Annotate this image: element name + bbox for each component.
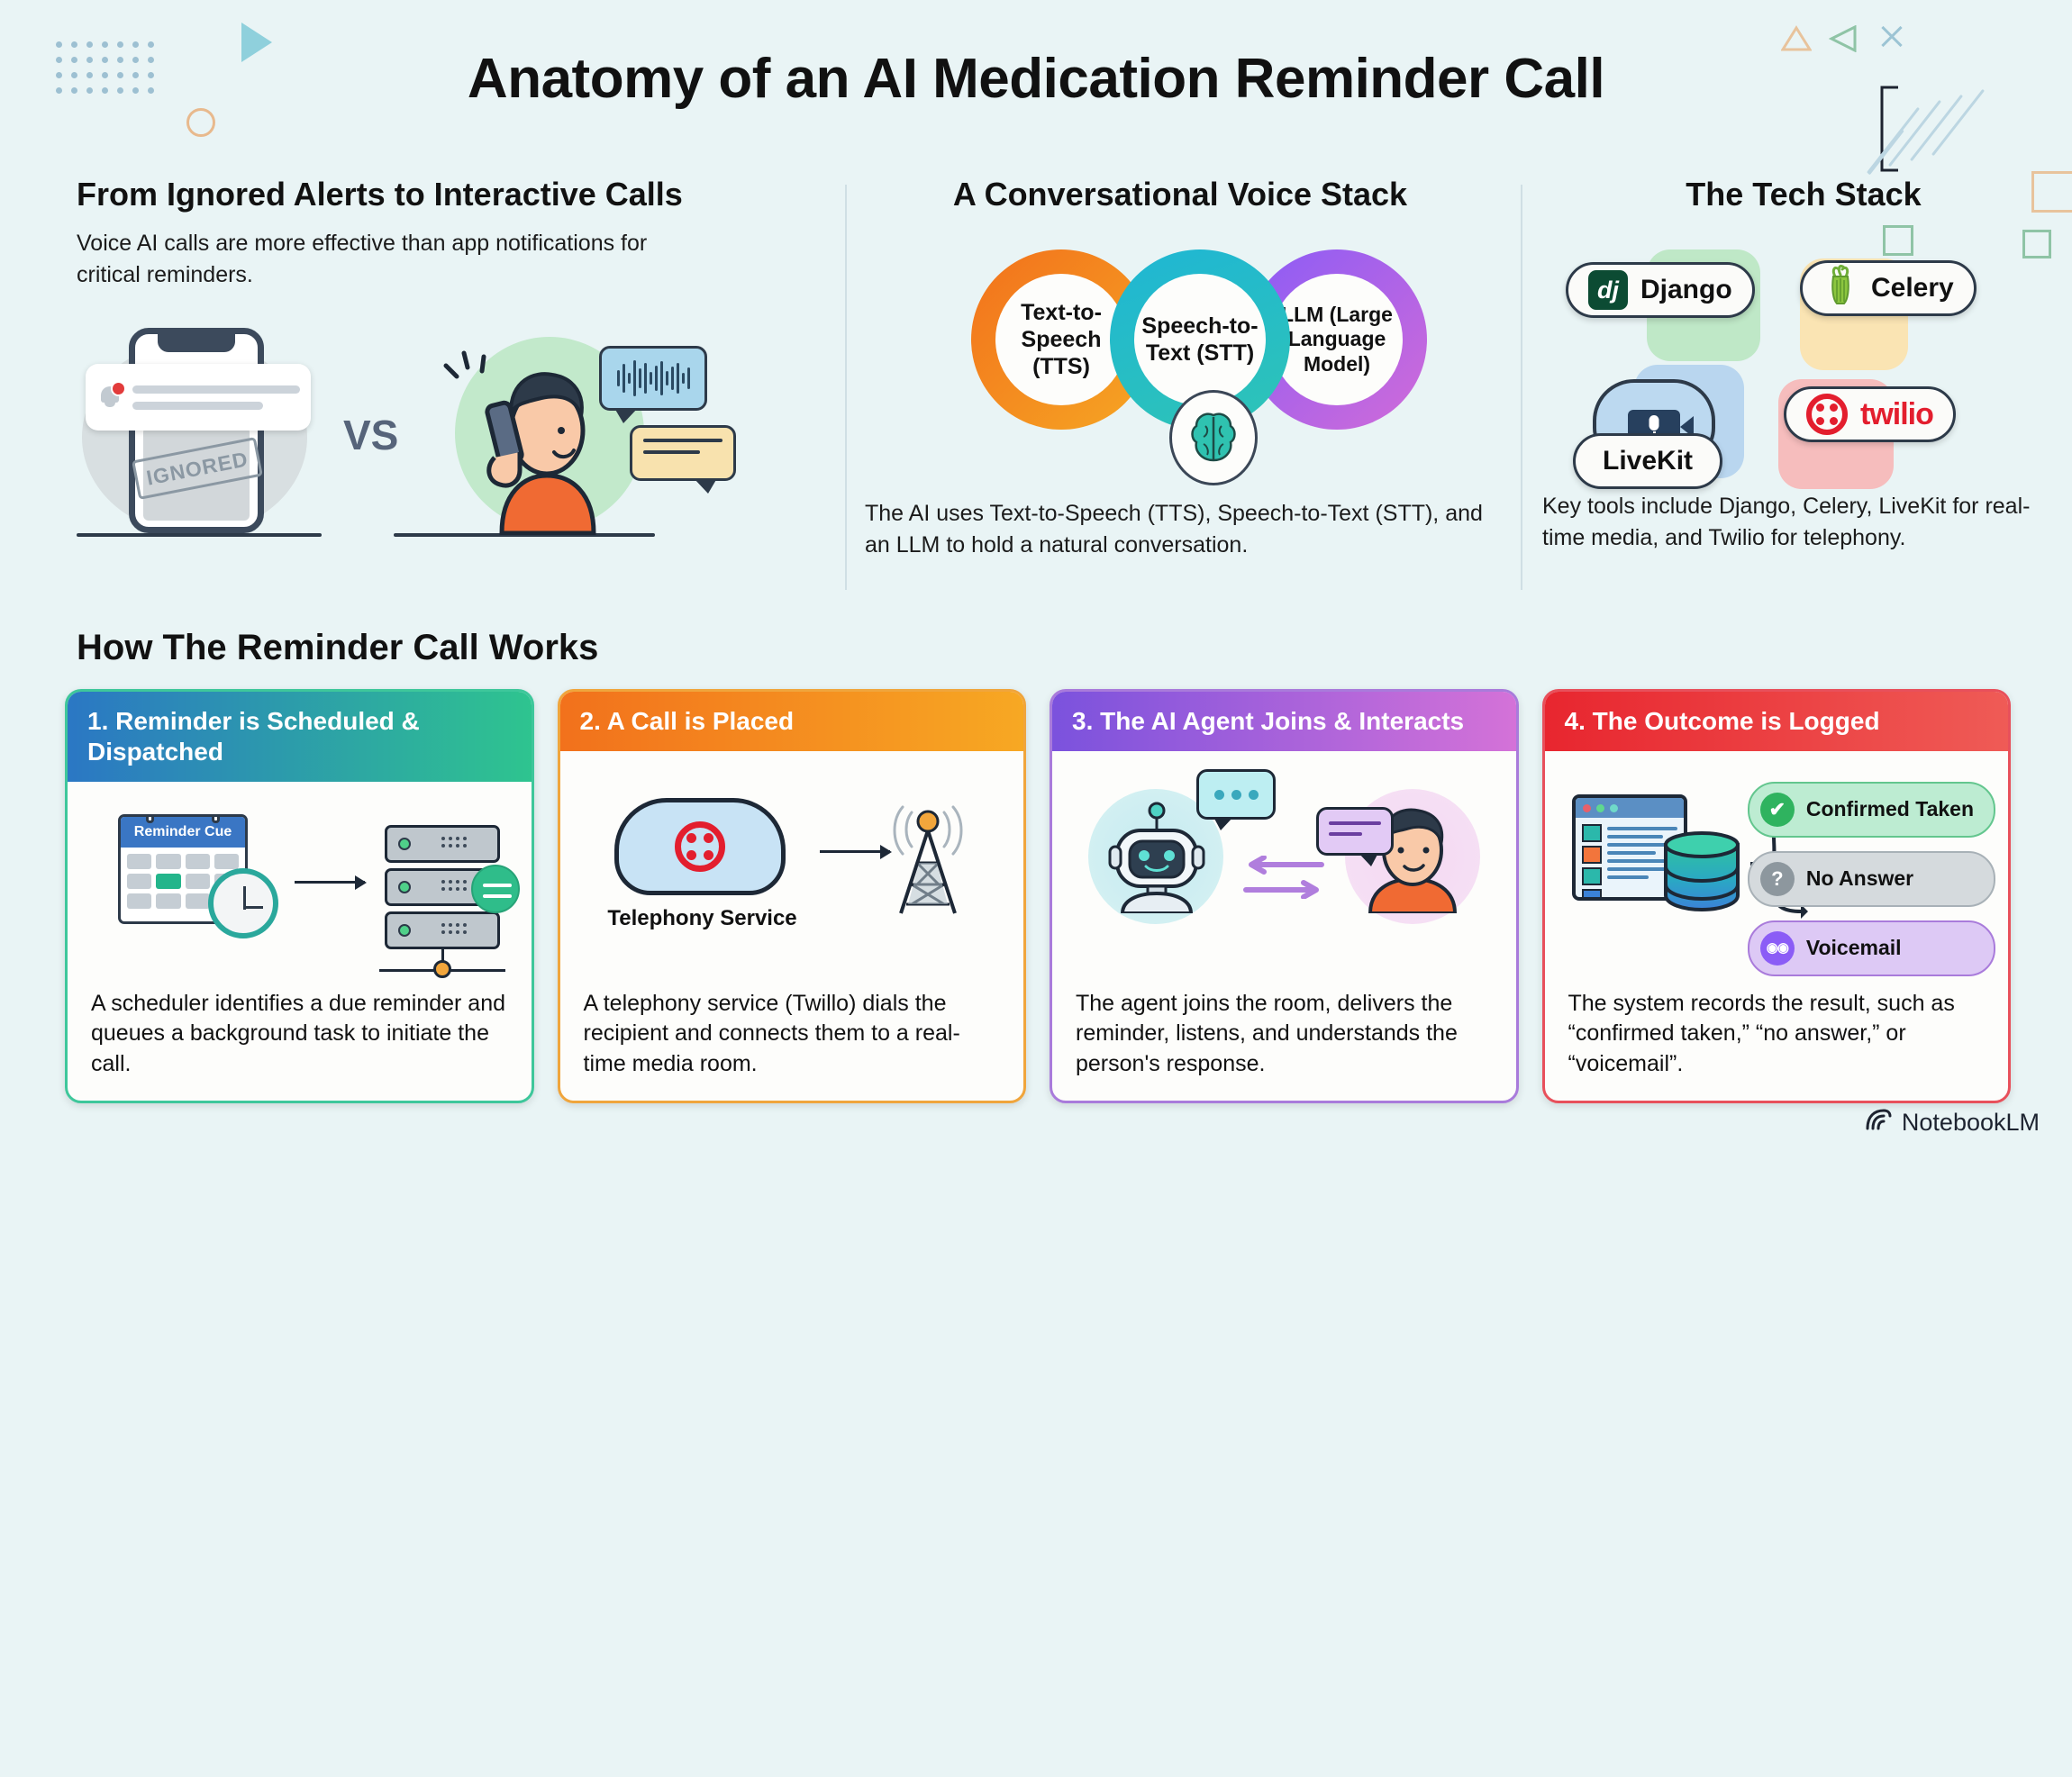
robot-speech-bubble xyxy=(1196,769,1276,820)
django-icon: dj xyxy=(1588,270,1628,310)
robot-icon xyxy=(1103,800,1211,913)
calendar-pin-left xyxy=(146,814,154,823)
chip-livekit-label: LiveKit xyxy=(1603,446,1693,476)
divider-right xyxy=(1521,185,1522,590)
card-2-illustration: Telephony Service xyxy=(560,751,1024,988)
chip-django[interactable]: dj Django xyxy=(1566,262,1755,318)
card-3-title: 3. The AI Agent Joins & Interacts xyxy=(1052,692,1516,751)
sync-icon xyxy=(471,865,520,913)
bell-badge-dot xyxy=(111,381,126,396)
vs-label: VS xyxy=(343,411,398,459)
phone-notch xyxy=(158,334,235,352)
exchange-arrows-icon xyxy=(1240,856,1327,899)
ring-llm-label: LLM (Large Language Model) xyxy=(1271,274,1403,405)
chip-celery-label: Celery xyxy=(1871,273,1954,304)
chip-django-label: Django xyxy=(1640,275,1732,305)
server-rack-3 xyxy=(385,911,500,949)
queue-node-dot xyxy=(433,960,451,978)
card-step-1[interactable]: 1. Reminder is Scheduled & Dispatched Re… xyxy=(65,689,534,1103)
section-voice-stack: A Conversational Voice Stack Text-to-Spe… xyxy=(865,176,1495,560)
clock-icon xyxy=(208,868,278,938)
section-middle-body: The AI uses Text-to-Speech (TTS), Speech… xyxy=(865,498,1495,560)
footer-brand: NotebookLM xyxy=(1865,1108,2040,1138)
card-2-title: 2. A Call is Placed xyxy=(560,692,1024,751)
chip-livekit-pill[interactable]: LiveKit xyxy=(1573,433,1722,489)
card-step-2[interactable]: 2. A Call is Placed Telephony Service xyxy=(558,689,1027,1103)
card-3-body: The agent joins the room, delivers the r… xyxy=(1052,989,1516,1102)
question-icon: ? xyxy=(1760,862,1795,896)
section-right-body: Key tools include Django, Celery, LiveKi… xyxy=(1542,491,2065,553)
telephony-service-label: Telephony Service xyxy=(604,906,802,931)
twilio-icon-cloud xyxy=(675,821,725,872)
section-left-heading: From Ignored Alerts to Interactive Calls xyxy=(77,176,815,213)
process-cards: 1. Reminder is Scheduled & Dispatched Re… xyxy=(65,689,2011,1103)
card-3-illustration xyxy=(1052,751,1516,988)
brain-icon xyxy=(1169,390,1258,485)
card-1-body: A scheduler identifies a due reminder an… xyxy=(68,989,532,1102)
card-4-body: The system records the result, such as “… xyxy=(1545,989,2009,1102)
badge-voicemail[interactable]: ◉◉ Voicemail xyxy=(1748,920,1995,976)
dashboard-swatches xyxy=(1582,824,1602,901)
check-icon: ✔ xyxy=(1760,793,1795,827)
voicemail-icon: ◉◉ xyxy=(1760,931,1795,966)
twilio-icon xyxy=(1806,394,1848,435)
decor-x-mark xyxy=(1878,23,1905,50)
card-2-body: A telephony service (Twillo) dials the r… xyxy=(560,989,1024,1102)
mic-icon xyxy=(1649,415,1659,431)
arrow-to-tower xyxy=(820,850,890,853)
card-step-4[interactable]: 4. The Outcome is Logged xyxy=(1542,689,2012,1103)
notification-card xyxy=(86,364,311,431)
chip-twilio[interactable]: twilio xyxy=(1784,386,1956,442)
text-message-bubble xyxy=(630,425,736,481)
page-title: Anatomy of an AI Medication Reminder Cal… xyxy=(0,47,2072,111)
server-rack-1 xyxy=(385,825,500,863)
section-tech-stack: The Tech Stack dj Django Celery xyxy=(1542,176,2065,553)
badge-confirmed-taken-label: Confirmed Taken xyxy=(1806,798,1974,821)
divider-left xyxy=(845,185,847,590)
notebooklm-wordmark: NotebookLM xyxy=(1902,1109,2040,1137)
cloud-icon xyxy=(614,798,786,895)
card-1-illustration: Reminder Cue xyxy=(68,782,532,988)
bell-icon xyxy=(96,384,123,411)
cell-tower-icon xyxy=(885,803,971,920)
chip-twilio-label: twilio xyxy=(1860,397,1933,432)
notification-text-lines xyxy=(132,385,300,410)
tech-chip-grid: dj Django Celery LiveKit xyxy=(1542,239,2065,464)
notebooklm-logo xyxy=(1865,1108,1892,1138)
top-sections: From Ignored Alerts to Interactive Calls… xyxy=(0,176,2072,599)
chip-livekit[interactable]: LiveKit xyxy=(1573,367,1744,484)
badge-no-answer[interactable]: ? No Answer xyxy=(1748,851,1995,907)
dashboard-titlebar xyxy=(1576,798,1684,818)
chip-celery[interactable]: Celery xyxy=(1800,260,1977,316)
decor-circle-orange xyxy=(186,108,215,137)
person-speech-bubble xyxy=(1316,807,1394,856)
section-right-heading: The Tech Stack xyxy=(1542,176,2065,213)
badge-confirmed-taken[interactable]: ✔ Confirmed Taken xyxy=(1748,782,1995,838)
ring-stt-label: Speech-to-Text (STT) xyxy=(1134,274,1266,405)
section-middle-heading: A Conversational Voice Stack xyxy=(865,176,1495,213)
badge-voicemail-label: Voicemail xyxy=(1806,937,1902,960)
card-1-title: 1. Reminder is Scheduled & Dispatched xyxy=(68,692,532,782)
outcome-badges: ✔ Confirmed Taken ? No Answer ◉◉ Voicema… xyxy=(1748,782,1995,976)
database-icon xyxy=(1660,829,1743,911)
voice-waveform-bubble xyxy=(599,346,707,411)
illustration-alerts-vs-call: IGNORED VS xyxy=(77,321,815,537)
section-left-body: Voice AI calls are more effective than a… xyxy=(77,228,698,290)
card-4-illustration: ✔ Confirmed Taken ? No Answer ◉◉ Voicema… xyxy=(1545,751,2009,988)
calendar-label: Reminder Cue xyxy=(121,817,245,848)
ground-line-left xyxy=(77,533,322,537)
section-ignored-alerts: From Ignored Alerts to Interactive Calls… xyxy=(77,176,815,537)
how-it-works-heading: How The Reminder Call Works xyxy=(77,628,598,668)
calendar-pin-right xyxy=(212,814,220,823)
badge-no-answer-label: No Answer xyxy=(1806,867,1913,891)
arrow-to-server xyxy=(295,881,365,884)
celery-icon xyxy=(1822,264,1858,313)
ring-tts-label: Text-to-Speech (TTS) xyxy=(995,274,1127,405)
card-step-3[interactable]: 3. The AI Agent Joins & Interacts xyxy=(1050,689,1519,1103)
card-4-title: 4. The Outcome is Logged xyxy=(1545,692,2009,751)
voice-stack-rings: Text-to-Speech (TTS) Speech-to-Text (STT… xyxy=(865,240,1495,473)
